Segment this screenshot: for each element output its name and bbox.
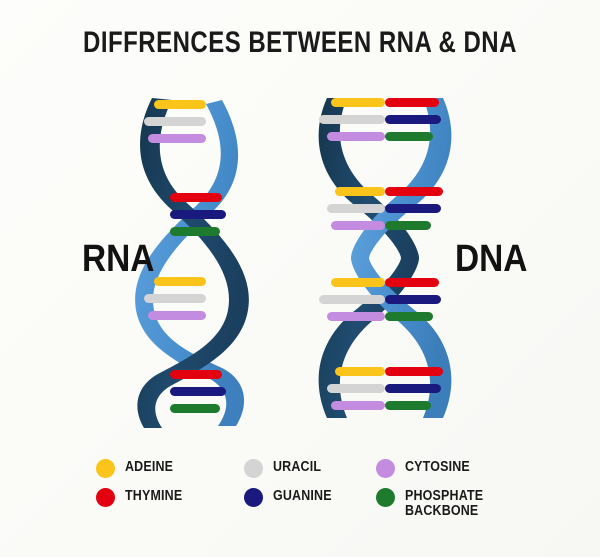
legend-dot-adeine (96, 459, 115, 478)
rna-base-bar-thymine-2 (170, 370, 222, 379)
dna-base-bar-uracil-3 (319, 295, 385, 304)
rna-base-bar-uracil (144, 117, 206, 126)
legend-dot-phosphate-backbone (376, 488, 395, 507)
dna-base-bar-uracil-4 (327, 384, 385, 393)
legend-label-phosphate-backbone: PHOSPHATE BACKBONE (405, 487, 483, 519)
dna-base-bar-guanine-2 (385, 204, 441, 213)
dna-base-bar-cytosine-3 (327, 312, 385, 321)
legend-dot-uracil (244, 459, 263, 478)
legend-item-guanine: GUANINE (244, 487, 376, 519)
dna-base-bar-uracil (319, 115, 385, 124)
legend: ADEINE URACIL CYTOSINE THYMINE GUANINE P… (96, 458, 536, 519)
legend-label-guanine: GUANINE (273, 487, 332, 504)
dna-label: DNA (455, 238, 527, 281)
legend-label-cytosine: CYTOSINE (405, 458, 470, 475)
legend-item-cytosine: CYTOSINE (376, 458, 536, 478)
dna-base-bar-guanine-3 (385, 295, 441, 304)
dna-base-bar-phosphate-2 (385, 221, 431, 230)
dna-base-bar-uracil-2 (327, 204, 385, 213)
page-title: DIFFRENCES BETWEEN RNA & DNA (60, 26, 540, 60)
dna-base-bar-adeine-3 (331, 278, 385, 287)
dna-base-bar-adeine-2 (335, 187, 385, 196)
legend-dot-cytosine (376, 459, 395, 478)
dna-base-bar-adeine-4 (335, 367, 385, 376)
legend-item-thymine: THYMINE (96, 487, 244, 519)
infographic-canvas: DIFFRENCES BETWEEN RNA & DNA (0, 0, 600, 557)
rna-base-bar-cytosine-2 (148, 311, 206, 320)
rna-base-bar-uracil-2 (144, 294, 206, 303)
rna-base-bar-phosphate (170, 227, 220, 236)
rna-base-bar-cytosine (148, 134, 206, 143)
rna-base-bar-guanine (170, 210, 226, 219)
rna-base-bar-guanine-2 (170, 387, 226, 396)
rna-base-bar-phosphate-2 (170, 404, 220, 413)
rna-label: RNA (82, 238, 154, 281)
dna-helix-diagram (305, 82, 465, 434)
dna-base-bar-cytosine-2 (331, 221, 385, 230)
dna-base-bar-cytosine (327, 132, 385, 141)
rna-base-bar-adeine (154, 100, 206, 109)
dna-base-bar-thymine (385, 98, 439, 107)
legend-label-thymine: THYMINE (125, 487, 182, 504)
dna-base-bar-phosphate (385, 132, 433, 141)
legend-dot-thymine (96, 488, 115, 507)
legend-item-adeine: ADEINE (96, 458, 244, 478)
dna-base-bar-phosphate-3 (385, 312, 433, 321)
legend-item-phosphate-backbone: PHOSPHATE BACKBONE (376, 487, 536, 519)
legend-label-uracil: URACIL (273, 458, 321, 475)
dna-base-bar-thymine-4 (385, 367, 443, 376)
legend-dot-guanine (244, 488, 263, 507)
legend-item-uracil: URACIL (244, 458, 376, 478)
rna-base-bar-adeine-2 (154, 277, 206, 286)
legend-label-adeine: ADEINE (125, 458, 173, 475)
rna-base-bar-thymine (170, 193, 222, 202)
dna-base-bar-guanine-4 (385, 384, 441, 393)
dna-base-bar-thymine-3 (385, 278, 439, 287)
dna-base-bar-phosphate-4 (385, 401, 431, 410)
dna-base-bar-cytosine-4 (331, 401, 385, 410)
dna-base-bar-adeine (331, 98, 385, 107)
dna-base-bar-guanine (385, 115, 441, 124)
dna-base-bar-thymine-2 (385, 187, 443, 196)
